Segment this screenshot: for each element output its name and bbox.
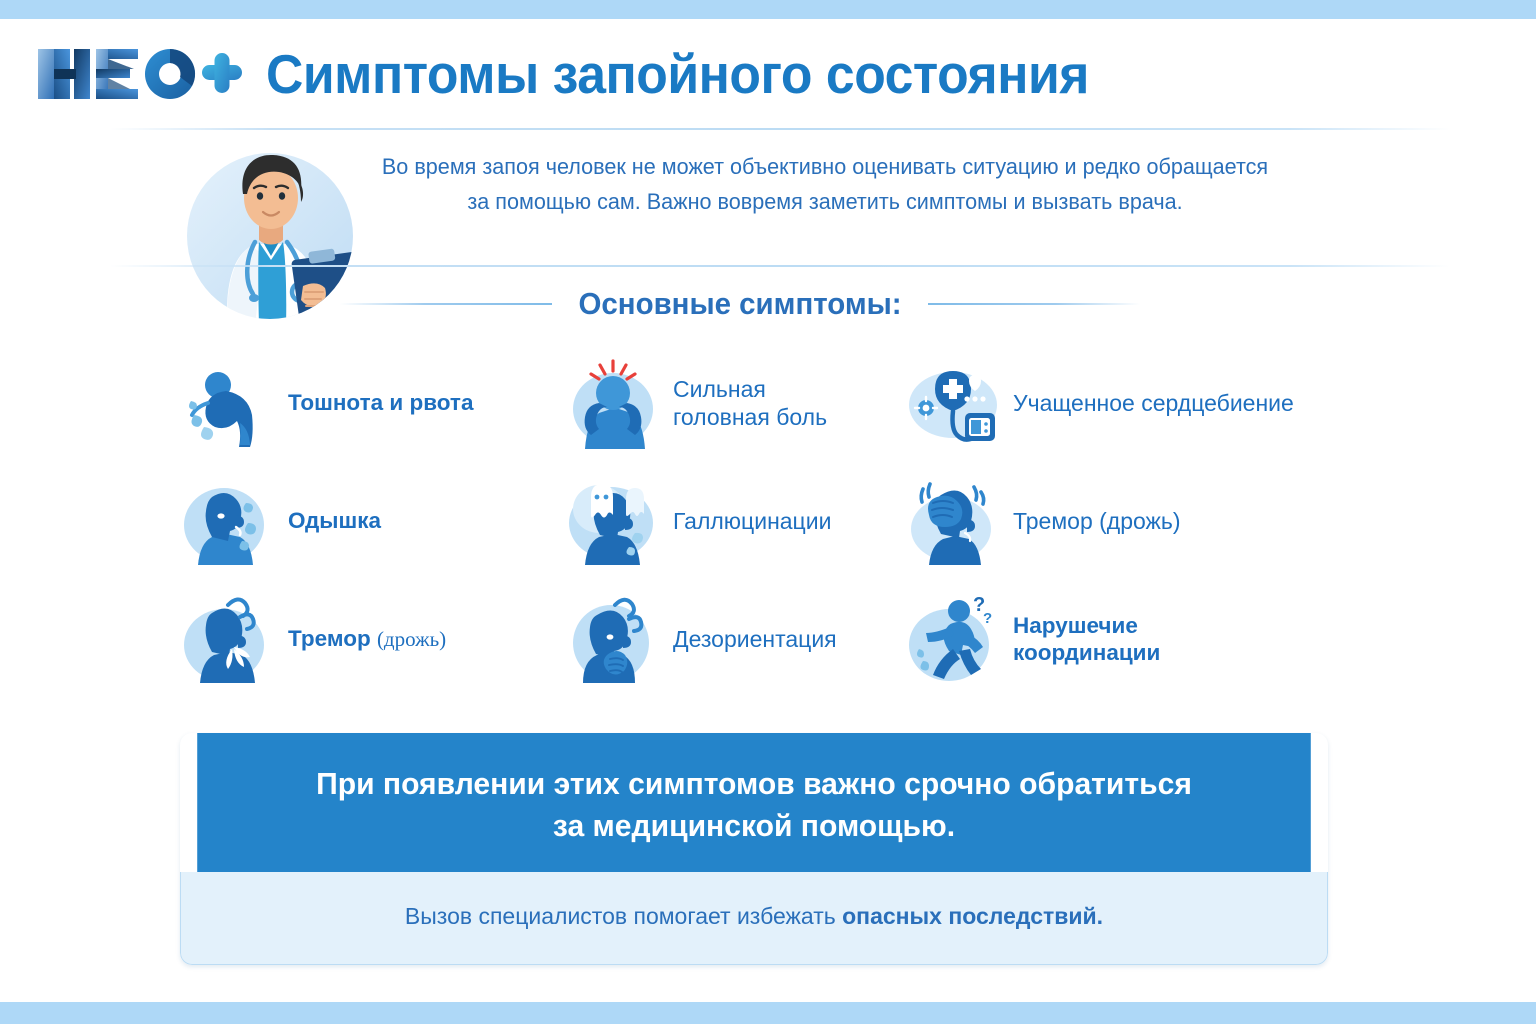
symptom-item-headache: Сильная головная боль [563, 344, 903, 462]
symptom-label: Тремор (дрожь) [288, 625, 446, 653]
symptom-item-nausea: Тошнота и рвота [178, 344, 563, 462]
bottom-decorative-band [0, 1002, 1536, 1024]
section-header: Основные симптомы: [340, 286, 1140, 322]
symptom-label: Тошнота и рвота [288, 389, 473, 416]
symptom-label-line-2: координации [1013, 640, 1160, 665]
symptom-label-line-1: Нарушечие [1013, 613, 1138, 638]
section-rule-right [928, 303, 1140, 305]
tremor-head-hands-icon [903, 471, 1003, 571]
neo-plus-logo [30, 45, 244, 103]
callout-line-1: При появлении этих симптомов важно срочн… [316, 766, 1192, 801]
intro-line-1: Во время запоя человек не может объектив… [382, 154, 1268, 179]
symptom-label-sub: (дрожь) [377, 627, 446, 651]
symptom-label-line-1: Сильная [673, 376, 766, 402]
symptom-label: Сильная головная боль [673, 375, 827, 431]
intro-block: Во время запоя человек не может объектив… [175, 136, 1375, 261]
page-title: Симптомы запойного состояния [266, 47, 1089, 102]
shortness-of-breath-icon [178, 471, 278, 571]
emergency-callout: При появлении этих симптомов важно срочн… [180, 733, 1328, 965]
symptom-label: Нарушечие координации [1013, 612, 1160, 667]
callout-note-emphasis: опасных последствий. [842, 903, 1103, 929]
section-title: Основные симптомы: [578, 286, 901, 322]
headache-icon [563, 353, 663, 453]
header-divider [110, 128, 1450, 130]
symptom-label-main: Тремор [288, 626, 377, 651]
doctor-avatar [175, 136, 365, 326]
section-rule-left [340, 303, 552, 305]
symptom-item-dyspnea: Одышка [178, 462, 563, 580]
hallucination-ghost-icon [563, 471, 663, 571]
callout-secondary-message: Вызов специалистов помогает избежать опа… [180, 872, 1328, 965]
infographic-page: Симптомы запойного состояния [0, 0, 1536, 1024]
symptom-label: Дезориентация [673, 625, 837, 653]
tremor-shaking-icon [178, 589, 278, 689]
symptom-label: Галлюцинации [673, 507, 831, 535]
callout-line-2: за медицинской помощью. [553, 808, 955, 843]
callout-primary-message: При появлении этих симптомов важно срочн… [197, 733, 1311, 872]
symptom-item-tremor-shaking: Тремор (дрожь) [178, 580, 563, 698]
symptom-item-hallucinations: Галлюцинации [563, 462, 903, 580]
symptom-label: Тремор (дрожь) [1013, 507, 1181, 535]
symptom-item-disorientation: Дезориентация [563, 580, 903, 698]
svg-text:?: ? [983, 610, 992, 627]
symptom-label: Одышка [288, 507, 381, 534]
callout-note-prefix: Вызов специалистов помогает избежать [405, 903, 842, 929]
symptom-item-tremor-head: Тремор (дрожь) [903, 462, 1358, 580]
vomiting-icon [178, 353, 278, 453]
disorientation-icon [563, 589, 663, 689]
top-decorative-band [0, 0, 1536, 19]
symptom-label-line-2: головная боль [673, 404, 827, 430]
intro-line-2: за помощью сам. Важно вовремя заметить с… [340, 185, 1310, 220]
symptom-grid: Тошнота и рвота [178, 344, 1358, 694]
symptom-item-coordination: ? ? Нарушечие координации [903, 580, 1358, 698]
page-header: Симптомы запойного состояния [0, 19, 1536, 129]
coordination-loss-icon: ? ? [903, 589, 1003, 689]
intro-divider [110, 265, 1450, 267]
intro-text: Во время запоя человек не может объектив… [340, 150, 1310, 220]
heartbeat-icon [903, 353, 1003, 453]
symptom-label: Учащенное сердцебиение [1013, 389, 1294, 417]
symptom-item-tachycardia: Учащенное сердцебиение [903, 344, 1358, 462]
